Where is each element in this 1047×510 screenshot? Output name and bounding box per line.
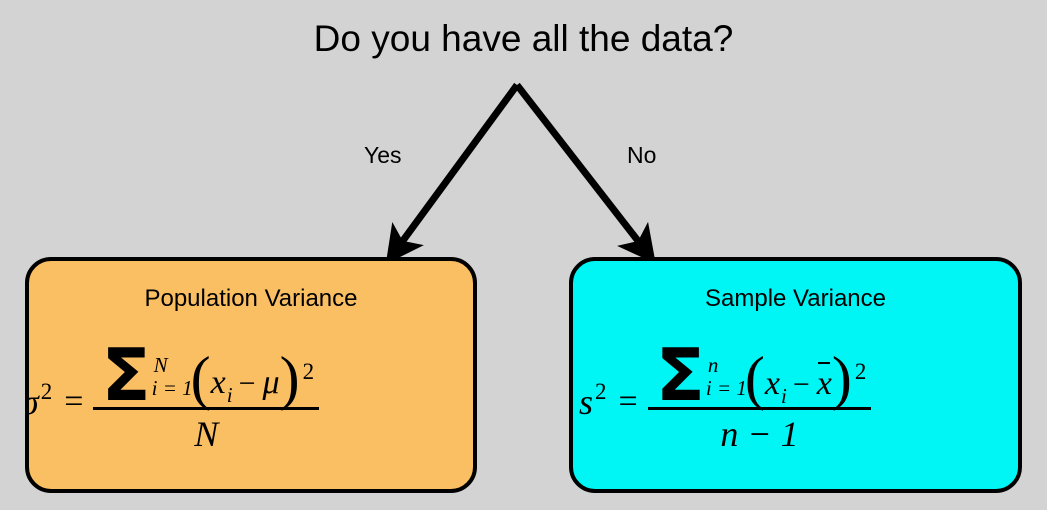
minus-sign-sample: − [793, 368, 810, 402]
formula-lhs-sigma: σ2 [25, 384, 50, 420]
node-title-sample: Sample Variance [573, 285, 1018, 313]
summation-sigma-icon: Σ [656, 347, 705, 403]
node-title-population: Population Variance [29, 285, 473, 313]
arrow-no [517, 85, 642, 246]
node-population-variance[interactable]: Population Variance σ2 = Σ N i = 1 ( [25, 257, 477, 493]
equals-sign-sample: = [619, 383, 638, 421]
fraction-population: Σ N i = 1 ( xi − μ ) [93, 349, 319, 455]
summation-upper-limit: n [706, 354, 747, 378]
edge-label-no: No [627, 142, 656, 169]
sigma-exponent: 2 [41, 380, 53, 403]
summand-expression-population: xi − μ [211, 364, 280, 402]
population-mean-symbol: μ [263, 364, 280, 402]
formula-lhs-s: s2 [579, 384, 605, 420]
summation-sample: Σ n i = 1 [656, 349, 747, 405]
summand-sample: ( xi − x ) 2 [745, 355, 863, 398]
sample-mean-symbol: x [817, 364, 832, 403]
summation-lower-limit: i = 1 [706, 377, 747, 401]
fraction-sample: Σ n i = 1 ( xi − x ) [648, 349, 872, 455]
equals-sign-population: = [64, 383, 83, 421]
paren-open-population: ( [191, 357, 211, 400]
edge-label-yes: Yes [364, 142, 402, 169]
summation-upper-limit: N [152, 354, 193, 378]
decision-diagram: Do you have all the data? Yes No Populat… [0, 0, 1047, 510]
paren-close-population: ) [280, 357, 300, 400]
formula-population-variance: σ2 = Σ N i = 1 ( xi [25, 349, 319, 455]
paren-open-sample: ( [745, 357, 765, 400]
summation-lower-limit: i = 1 [152, 377, 193, 401]
summand-population: ( xi − μ ) 2 [191, 355, 311, 398]
node-sample-variance[interactable]: Sample Variance s2 = Σ n i = 1 ( [569, 257, 1022, 493]
summation-limits-sample: n i = 1 [706, 354, 747, 401]
term-subscript-sample: i [781, 384, 787, 409]
sigma-symbol: σ [25, 384, 39, 420]
fraction-numerator-population: Σ N i = 1 ( xi − μ ) [93, 349, 319, 407]
s-exponent: 2 [595, 380, 607, 403]
term-variable-sample: x [765, 365, 780, 403]
summation-population: Σ N i = 1 [101, 349, 192, 405]
paren-close-sample: ) [832, 357, 852, 400]
summation-sigma-icon: Σ [101, 347, 150, 403]
power-population: 2 [303, 359, 315, 385]
formula-sample-variance: s2 = Σ n i = 1 ( xi [579, 349, 871, 455]
term-variable-population: x [211, 364, 226, 402]
power-sample: 2 [855, 359, 867, 385]
term-subscript-population: i [227, 383, 233, 408]
arrow-yes [399, 85, 517, 246]
s-symbol: s [579, 384, 593, 420]
fraction-numerator-sample: Σ n i = 1 ( xi − x ) [648, 349, 872, 407]
summand-expression-sample: xi − x [765, 364, 832, 403]
summation-limits-population: N i = 1 [152, 354, 193, 401]
minus-sign-population: − [239, 367, 256, 401]
